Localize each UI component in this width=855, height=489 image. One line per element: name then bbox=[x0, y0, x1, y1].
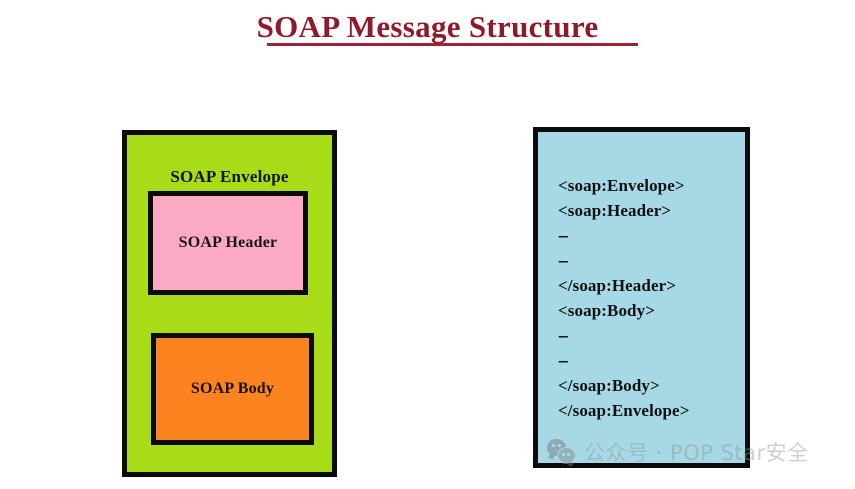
xml-code-line: <soap:Header> bbox=[558, 198, 748, 223]
soap-body-box: SOAP Body bbox=[151, 333, 314, 445]
xml-code-line: -- bbox=[558, 223, 748, 248]
watermark: 公众号 · POP Star安全 bbox=[547, 437, 809, 467]
xml-code-line: </soap:Body> bbox=[558, 373, 748, 398]
page-title: SOAP Message Structure bbox=[254, 10, 602, 44]
watermark-text: 公众号 · POP Star安全 bbox=[584, 437, 809, 467]
xml-code-line: <soap:Envelope> bbox=[558, 173, 748, 198]
xml-code-line: </soap:Header> bbox=[558, 273, 748, 298]
soap-xml-panel: <soap:Envelope> <soap:Header> -- -- </so… bbox=[533, 127, 750, 468]
wechat-eye bbox=[558, 444, 561, 447]
wechat-eye bbox=[552, 444, 555, 447]
soap-header-box: SOAP Header bbox=[148, 191, 308, 295]
title-underline bbox=[267, 43, 638, 46]
soap-envelope-box: SOAP Envelope SOAP Header SOAP Body bbox=[122, 130, 337, 477]
xml-code-line: -- bbox=[558, 348, 748, 373]
xml-code-line: </soap:Envelope> bbox=[558, 398, 748, 423]
xml-code-line: -- bbox=[558, 248, 748, 273]
soap-body-label: SOAP Body bbox=[191, 380, 274, 398]
wechat-icon bbox=[547, 439, 577, 465]
title-container: SOAP Message Structure bbox=[0, 10, 855, 44]
wechat-bubble-front bbox=[557, 447, 576, 464]
soap-envelope-label: SOAP Envelope bbox=[127, 167, 332, 187]
wechat-eye bbox=[562, 453, 565, 456]
slide-canvas: SOAP Message Structure SOAP Envelope SOA… bbox=[0, 0, 855, 489]
wechat-eye bbox=[567, 453, 570, 456]
xml-code-line: -- bbox=[558, 323, 748, 348]
xml-code-line: <soap:Body> bbox=[558, 298, 748, 323]
soap-xml-code-block: <soap:Envelope> <soap:Header> -- -- </so… bbox=[558, 173, 748, 423]
soap-header-label: SOAP Header bbox=[179, 234, 278, 252]
